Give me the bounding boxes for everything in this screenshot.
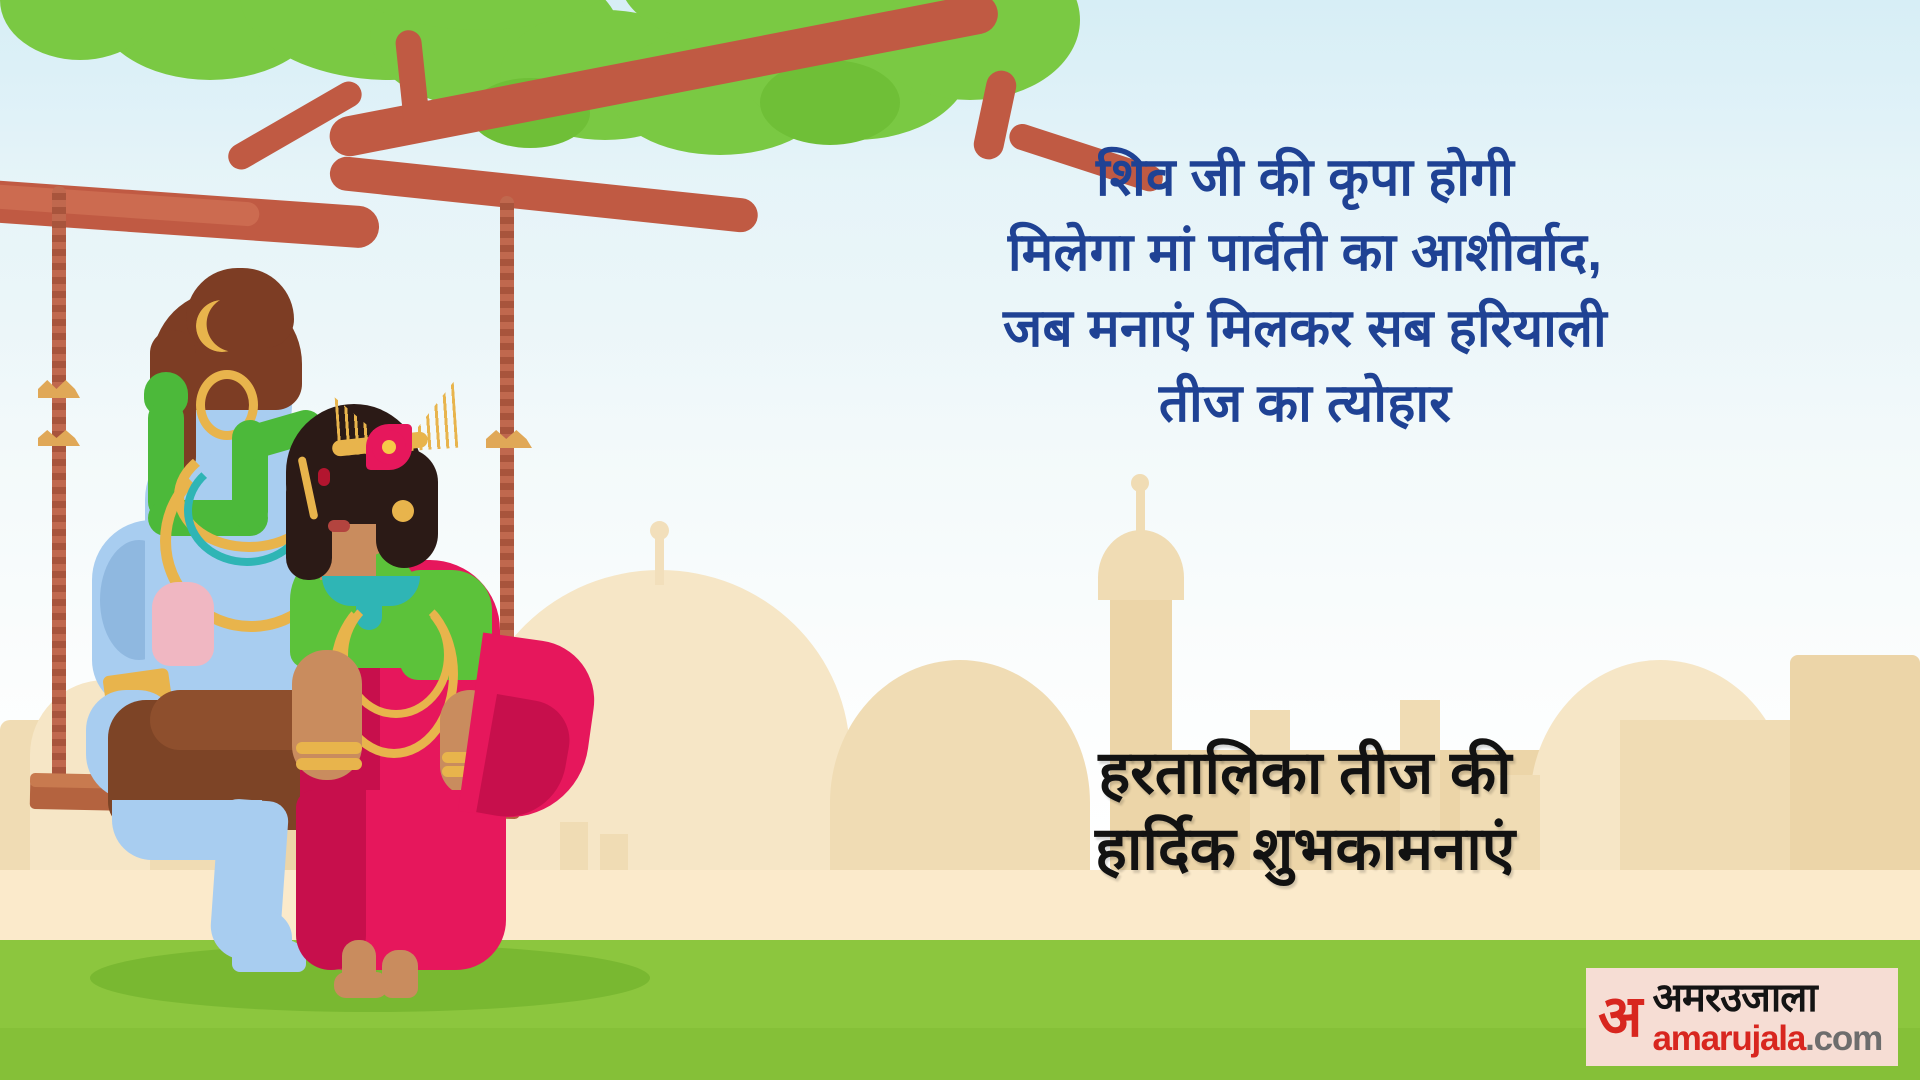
greeting-line-1: हरतालिका तीज की <box>760 735 1850 811</box>
shiva-palm <box>152 582 214 666</box>
verse-line-4: तीज का त्योहार <box>760 366 1850 441</box>
logo-mark-icon: अ <box>1598 989 1640 1044</box>
greeting-line-2: हार्दिक शुभकामनाएं <box>760 811 1850 887</box>
logo-domain-name: amarujala <box>1652 1019 1805 1058</box>
logo-hindi-name: अमरउजाला <box>1652 978 1882 1018</box>
verse-line-2: मिलेगा मां पार्वती का आशीर्वाद, <box>760 215 1850 290</box>
swing-rope-left <box>52 186 66 786</box>
verse-line-1: शिव जी की कृपा होगी <box>760 140 1850 215</box>
verse-line-3: जब मनाएं मिलकर सब हरियाली <box>760 291 1850 366</box>
logo-domain: amarujala.com <box>1652 1021 1882 1056</box>
logo-domain-tld: .com <box>1805 1019 1882 1058</box>
greeting-card-canvas: शिव जी की कृपा होगी मिलेगा मां पार्वती क… <box>0 0 1920 1080</box>
greeting-text: हरतालिका तीज की हार्दिक शुभकामनाएं <box>760 735 1850 886</box>
logo-wordmark: अमरउजाला amarujala.com <box>1652 978 1882 1056</box>
verse-text: शिव जी की कृपा होगी मिलेगा मां पार्वती क… <box>760 140 1850 441</box>
amarujala-logo[interactable]: अ अमरउजाला amarujala.com <box>1586 968 1898 1066</box>
